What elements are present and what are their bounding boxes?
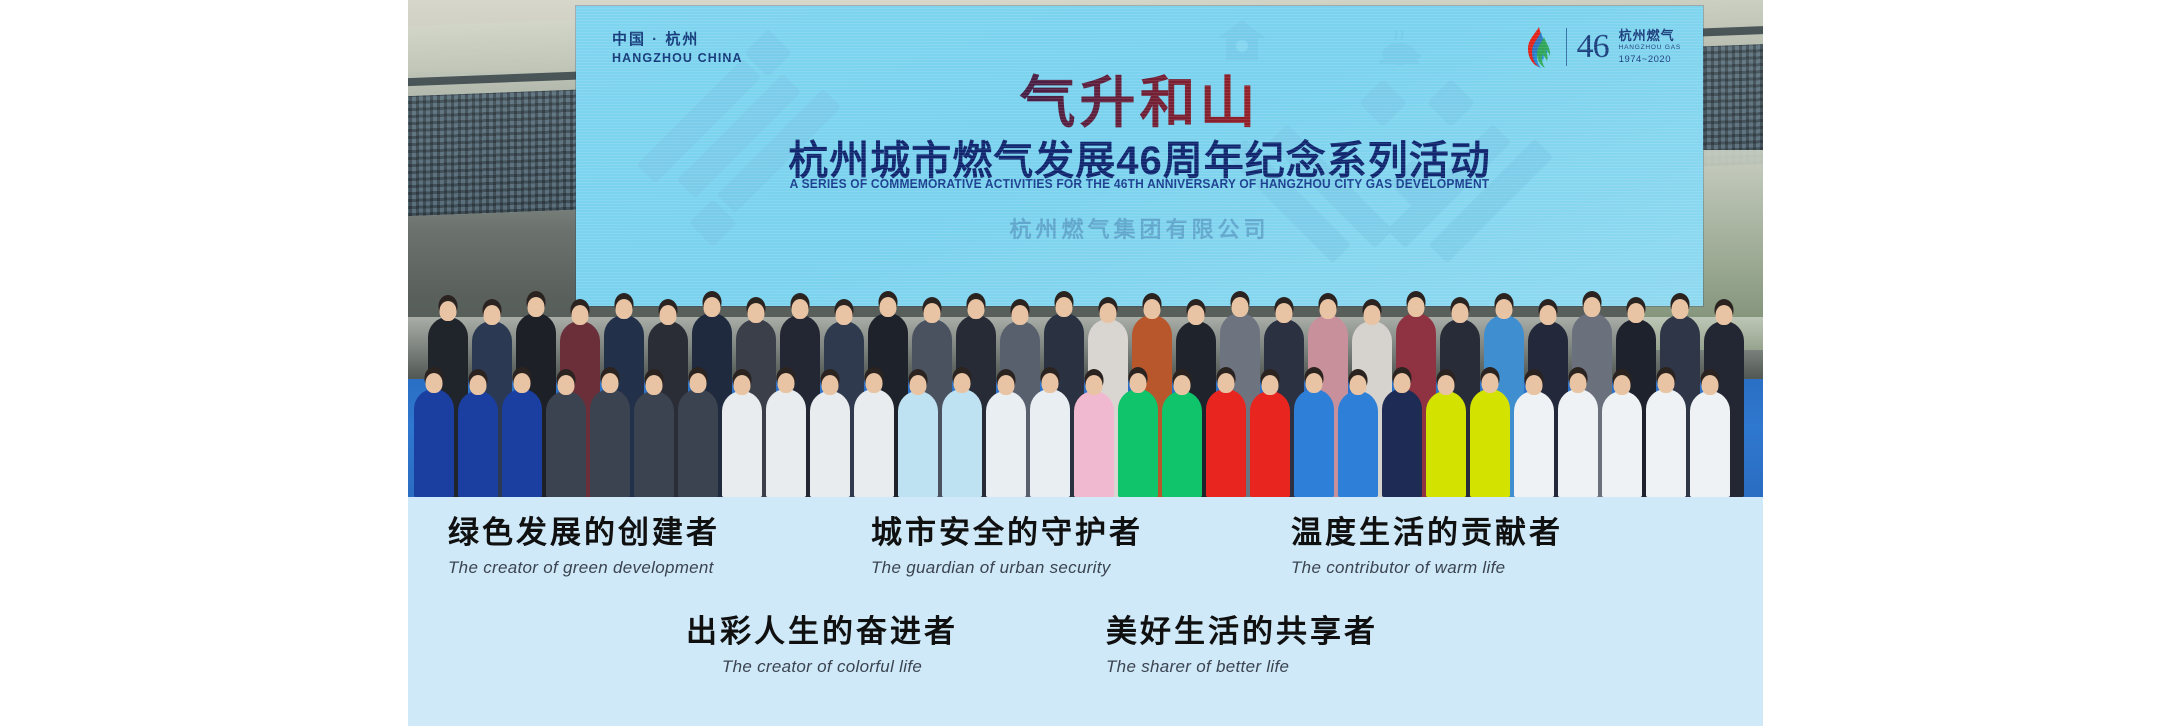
person [766, 389, 806, 497]
person [1382, 389, 1422, 497]
person [810, 391, 850, 497]
page-root: 中国 · 杭州 HANGZHOU CHINA 46 杭州燃气 HANGZHOU … [0, 0, 2179, 726]
caption-item-urban-security: 城市安全的守护者 The guardian of urban security [871, 515, 1143, 578]
caption-cn: 出彩人生的奋进者 [686, 614, 958, 650]
person [1162, 391, 1202, 497]
person [898, 391, 938, 497]
caption-en: The sharer of better life [1106, 657, 1378, 677]
person [1250, 391, 1290, 497]
person [1514, 391, 1554, 497]
person [1470, 389, 1510, 497]
group-photo: 中国 · 杭州 HANGZHOU CHINA 46 杭州燃气 HANGZHOU … [408, 0, 1763, 497]
caption-en: The contributor of warm life [1291, 558, 1563, 578]
person [1118, 389, 1158, 497]
person [634, 391, 674, 497]
led-wordmark: 气升和山 [576, 58, 1703, 139]
logo-brand-en: HANGZHOU GAS [1619, 44, 1681, 52]
person [1558, 389, 1598, 497]
caption-item-better-life: 美好生活的共享者 The sharer of better life [1106, 614, 1378, 677]
person [1074, 391, 1114, 497]
caption-en: The creator of green development [448, 558, 720, 578]
person [1338, 391, 1378, 497]
person [1690, 391, 1730, 497]
crowd [408, 167, 1763, 497]
person [1206, 389, 1246, 497]
person [458, 391, 498, 497]
person [986, 391, 1026, 497]
person [722, 391, 762, 497]
caption-cn: 美好生活的共享者 [1106, 614, 1378, 650]
person [678, 389, 718, 497]
logo-brand-cn: 杭州燃气 [1619, 28, 1681, 44]
person [546, 391, 586, 497]
content-column: 中国 · 杭州 HANGZHOU CHINA 46 杭州燃气 HANGZHOU … [408, 0, 1763, 726]
caption-panel: 绿色发展的创建者 The creator of green developmen… [408, 497, 1763, 726]
person [590, 389, 630, 497]
person [1426, 391, 1466, 497]
caption-en: The guardian of urban security [871, 558, 1143, 578]
caption-row-2: 出彩人生的奋进者 The creator of colorful life 美好… [408, 614, 1763, 677]
person [1602, 391, 1642, 497]
caption-cn: 温度生活的贡献者 [1291, 515, 1563, 551]
house-icon [1216, 16, 1268, 62]
person [854, 389, 894, 497]
person [1646, 389, 1686, 497]
caption-item-colorful-life: 出彩人生的奋进者 The creator of colorful life [686, 614, 958, 677]
caption-cn: 绿色发展的创建者 [448, 515, 720, 551]
caption-row-1: 绿色发展的创建者 The creator of green developmen… [408, 515, 1763, 578]
person [414, 389, 454, 497]
led-corner-cn: 中国 · 杭州 [612, 30, 743, 50]
person [1294, 389, 1334, 497]
caption-en: The creator of colorful life [686, 657, 958, 677]
caption-cn: 城市安全的守护者 [871, 515, 1143, 551]
caption-item-green-development: 绿色发展的创建者 The creator of green developmen… [448, 515, 720, 578]
person [942, 389, 982, 497]
caption-item-warm-life: 温度生活的贡献者 The contributor of warm life [1291, 515, 1563, 578]
person [1030, 389, 1070, 497]
person [502, 389, 542, 497]
